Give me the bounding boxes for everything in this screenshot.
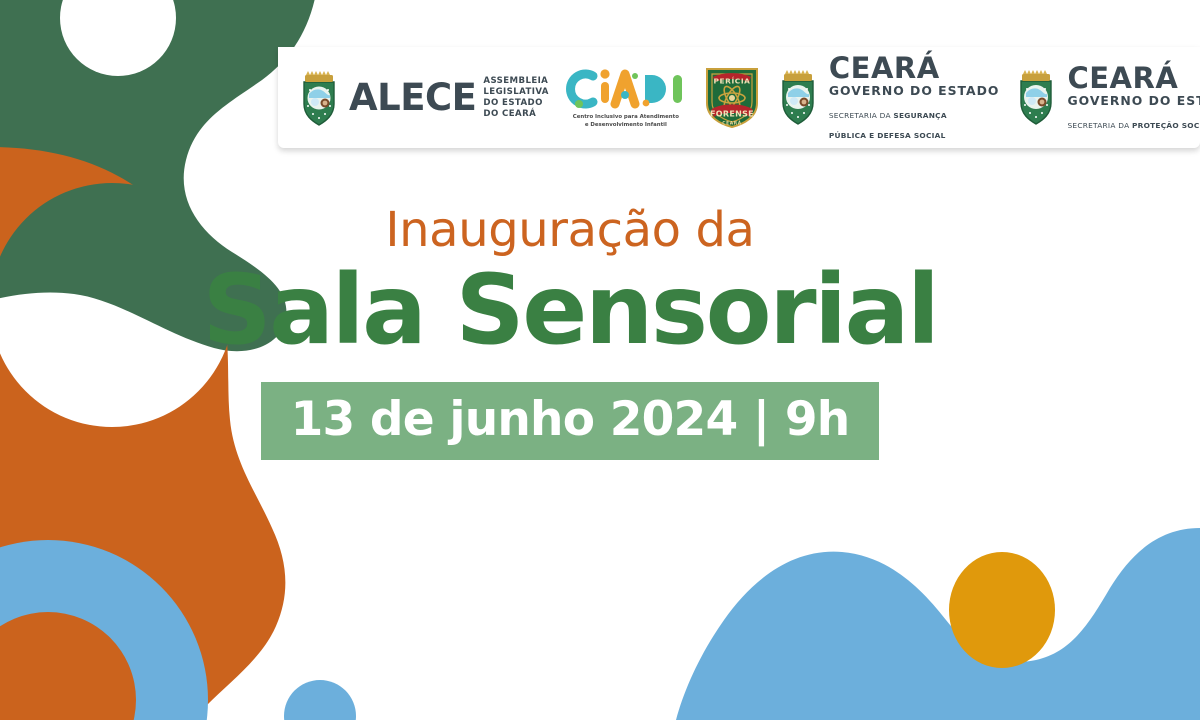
amber-circle-bottom-right bbox=[949, 552, 1055, 668]
svg-text:FORENSE: FORENSE bbox=[710, 109, 754, 118]
logo-pericia-forense: PERÍCIA FORENSE CEARÁ bbox=[703, 65, 761, 131]
ceara-secretaria-line: SECRETARIA DA PROTEÇÃO SOCIAL bbox=[1067, 111, 1200, 131]
event-title: Sala Sensorial bbox=[0, 262, 1140, 360]
logo-ceara-protecao-social: CEARÁ GOVERNO DO ESTADO SECRETARIA DA PR… bbox=[1013, 64, 1200, 132]
ceara-secretaria-line: SECRETARIA DA SEGURANÇA PÚBLICA E DEFESA… bbox=[829, 101, 1000, 141]
pericia-forense-shield-icon: PERÍCIA FORENSE CEARÁ bbox=[703, 65, 761, 131]
event-kicker: Inauguração da bbox=[0, 205, 1140, 256]
alece-subtitle: ASSEMBLEIA LEGISLATIVA DO ESTADO DO CEAR… bbox=[483, 76, 548, 120]
ceara-coat-of-arms-icon bbox=[775, 67, 821, 127]
secretaria-bold-1: SEGURANÇA bbox=[893, 111, 946, 120]
ciadi-logo-icon bbox=[563, 66, 689, 112]
blue-ring-bottom-left bbox=[0, 540, 208, 720]
ceara-coat-of-arms-icon bbox=[1013, 67, 1059, 127]
secretaria-bold-2: PÚBLICA E DEFESA SOCIAL bbox=[829, 131, 946, 140]
logo-alece: ALECE ASSEMBLEIA LEGISLATIVA DO ESTADO D… bbox=[296, 68, 549, 128]
svg-text:PERÍCIA: PERÍCIA bbox=[713, 76, 750, 85]
secretaria-prefix: SECRETARIA DA bbox=[829, 111, 894, 120]
secretaria-prefix: SECRETARIA DA bbox=[1067, 121, 1132, 130]
secretaria-bold-1: PROTEÇÃO SOCIAL bbox=[1132, 121, 1200, 130]
headline-block: Inauguração da Sala Sensorial 13 de junh… bbox=[0, 205, 1200, 460]
ciadi-subtitle: Centro Inclusivo para Atendimento e Dese… bbox=[573, 114, 679, 130]
date-band-row: 13 de junho 2024 | 9h bbox=[0, 382, 1140, 460]
ceara-wordmark: CEARÁ bbox=[829, 54, 1000, 83]
poster-canvas: ALECE ASSEMBLEIA LEGISLATIVA DO ESTADO D… bbox=[0, 0, 1200, 720]
svg-text:CEARÁ: CEARÁ bbox=[722, 119, 741, 126]
alece-wordmark: ALECE bbox=[349, 79, 476, 116]
logo-ceara-sspds: CEARÁ GOVERNO DO ESTADO SECRETARIA DA SE… bbox=[775, 54, 1000, 142]
event-date-badge: 13 de junho 2024 | 9h bbox=[261, 382, 880, 460]
blue-wave-bottom-right bbox=[676, 528, 1200, 720]
ceara-governo-line: GOVERNO DO ESTADO bbox=[829, 83, 1000, 100]
logo-ciadi: Centro Inclusivo para Atendimento e Dese… bbox=[563, 66, 689, 130]
ceara-governo-line: GOVERNO DO ESTADO bbox=[1067, 93, 1200, 110]
ceara-coat-of-arms-icon bbox=[296, 68, 342, 128]
ceara-wordmark: CEARÁ bbox=[1067, 64, 1200, 93]
blue-dot-bottom-center bbox=[284, 680, 356, 720]
logo-bar: ALECE ASSEMBLEIA LEGISLATIVA DO ESTADO D… bbox=[278, 47, 1200, 148]
